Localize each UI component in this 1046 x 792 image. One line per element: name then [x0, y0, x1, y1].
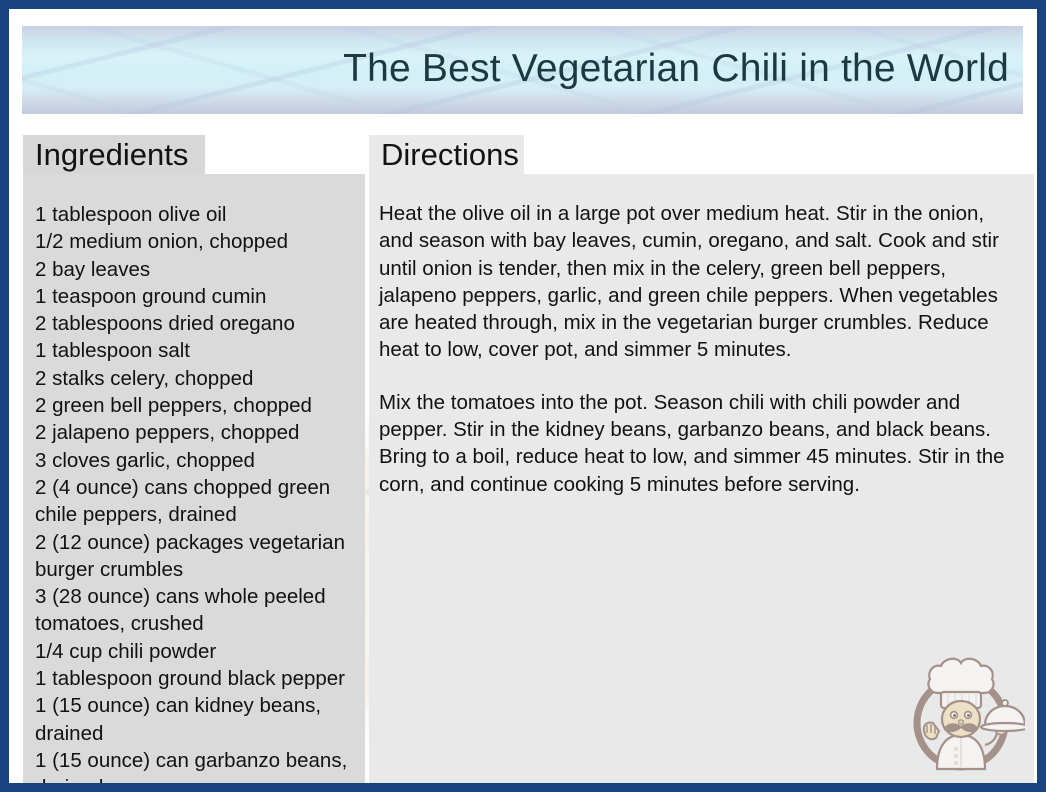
ingredient-item: 2 jalapeno peppers, chopped [35, 419, 355, 446]
recipe-card-inner: The Best Vegetarian Chili in the World I… [9, 9, 1037, 783]
ingredients-heading-label: Ingredients [35, 139, 188, 170]
ingredients-panel: 1 tablespoon olive oil 1/2 medium onion,… [23, 174, 365, 783]
ingredient-item: 2 (12 ounce) packages vegetarian burger … [35, 529, 355, 584]
ingredient-item: 1/2 medium onion, chopped [35, 228, 355, 255]
ingredient-item: 1/4 cup chili powder [35, 638, 355, 665]
recipe-card: The Best Vegetarian Chili in the World I… [0, 0, 1046, 792]
directions-panel: Heat the olive oil in a large pot over m… [369, 174, 1034, 783]
title-banner: The Best Vegetarian Chili in the World [22, 26, 1023, 114]
ingredient-item: 1 tablespoon olive oil [35, 201, 355, 228]
ingredient-item: 2 stalks celery, chopped [35, 365, 355, 392]
ingredients-heading-tab: Ingredients [23, 135, 205, 174]
ingredient-item: 1 (15 ounce) can garbanzo beans, drained [35, 747, 355, 783]
ingredient-item: 1 teaspoon ground cumin [35, 283, 355, 310]
ingredient-item: 2 green bell peppers, chopped [35, 392, 355, 419]
ingredient-item: 3 cloves garlic, chopped [35, 447, 355, 474]
ingredient-item: 1 tablespoon ground black pepper [35, 665, 355, 692]
ingredient-item: 2 (4 ounce) cans chopped green chile pep… [35, 474, 355, 529]
directions-paragraph: Mix the tomatoes into the pot. Season ch… [379, 389, 1022, 498]
ingredient-item: 2 tablespoons dried oregano [35, 310, 355, 337]
directions-heading-label: Directions [381, 139, 519, 170]
ingredients-list: 1 tablespoon olive oil 1/2 medium onion,… [35, 201, 355, 783]
directions-heading-tab: Directions [369, 135, 524, 174]
ingredient-item: 2 bay leaves [35, 256, 355, 283]
ingredient-item: 1 tablespoon salt [35, 337, 355, 364]
ingredient-item: 1 (15 ounce) can kidney beans, drained [35, 692, 355, 747]
ingredient-item: 3 (28 ounce) cans whole peeled tomatoes,… [35, 583, 355, 638]
page-title: The Best Vegetarian Chili in the World [343, 47, 1009, 91]
directions-paragraph: Heat the olive oil in a large pot over m… [379, 200, 1022, 364]
